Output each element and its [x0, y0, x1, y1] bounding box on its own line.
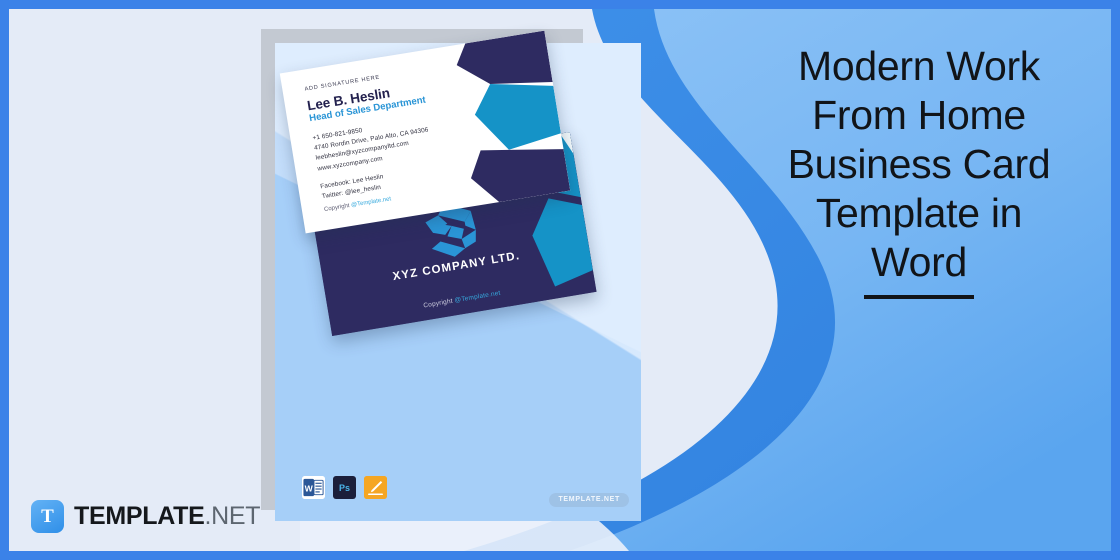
word-icon[interactable]: W	[302, 476, 325, 499]
template-net-mark-letter: T	[41, 507, 54, 526]
photoshop-icon-label: Ps	[339, 483, 350, 493]
headline-line-5: Word	[744, 238, 1094, 287]
brand-name-bold: TEMPLATE	[74, 502, 204, 530]
template-net-mark-icon: T	[31, 500, 64, 533]
headline-line-3: Business Card	[744, 140, 1094, 189]
brand-name-light: .NET	[204, 502, 260, 530]
file-format-icons: W Ps	[302, 476, 387, 499]
front-card-details: ADD SIGNATURE HERE Lee B. Heslin Head of…	[304, 61, 484, 213]
illustrator-icon[interactable]	[364, 476, 387, 499]
business-card-mockup-stack: XYZ COMPANY LTD. Copyright @Template.net…	[275, 43, 641, 521]
headline-line-2: From Home	[744, 91, 1094, 140]
page-title: Modern Work From Home Business Card Temp…	[744, 42, 1094, 299]
headline-line-1: Modern Work	[744, 42, 1094, 91]
headline-line-4: Template in	[744, 189, 1094, 238]
headline-underline	[864, 295, 974, 299]
template-net-wordmark: TEMPLATE.NET	[74, 504, 260, 529]
illustrator-pencil-glyph	[364, 476, 387, 499]
word-icon-glyph: W	[302, 476, 325, 499]
photoshop-icon[interactable]: Ps	[333, 476, 356, 499]
page-canvas: Modern Work From Home Business Card Temp…	[9, 9, 1111, 551]
template-net-logo[interactable]: T TEMPLATE.NET	[31, 500, 260, 533]
svg-text:W: W	[305, 483, 314, 493]
